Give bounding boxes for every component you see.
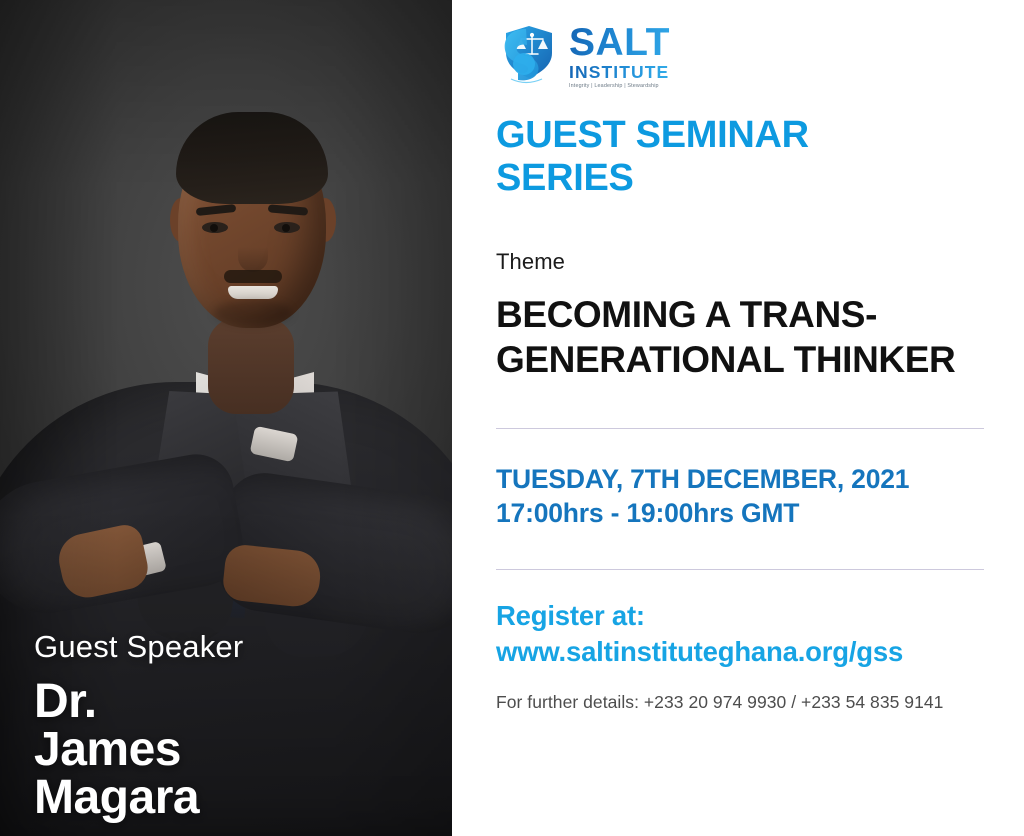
portrait-neck <box>208 318 294 414</box>
salt-institute-logo[interactable]: SALT INSTITUTE Integrity | Leadership | … <box>496 0 992 72</box>
contact-details: For further details: +233 20 974 9930 / … <box>496 692 992 713</box>
portrait-hand-right <box>221 543 322 609</box>
theme-label: Theme <box>496 249 992 275</box>
portrait-moustache <box>224 270 282 283</box>
series-title: GUEST SEMINAR SERIES <box>496 114 916 199</box>
seminar-flyer: Guest Speaker Dr. James Magara <box>0 0 1024 836</box>
speaker-caption: Guest Speaker Dr. James Magara <box>34 630 243 822</box>
speaker-name-line-1: Dr. <box>34 678 243 726</box>
portrait-hair <box>176 112 328 204</box>
speaker-name-line-3: Magara <box>34 774 243 822</box>
portrait-chin-shadow <box>214 300 292 326</box>
salt-wordmark: SALT INSTITUTE Integrity | Leadership | … <box>569 23 670 90</box>
theme-title: BECOMING A TRANS-GENERATIONAL THINKER <box>496 292 966 382</box>
speaker-name-line-2: James <box>34 726 243 774</box>
register-url[interactable]: www.saltinstituteghana.org/gss <box>496 634 992 670</box>
register-block: Register at: www.saltinstituteghana.org/… <box>496 598 992 670</box>
logo-institute-text: INSTITUTE <box>569 64 670 82</box>
speaker-name: Dr. James Magara <box>34 678 243 822</box>
event-date: TUESDAY, 7TH DECEMBER, 2021 <box>496 463 992 497</box>
portrait-eye-left <box>202 222 228 233</box>
salt-shield-scales-icon <box>496 20 562 86</box>
divider-bottom <box>496 569 984 570</box>
event-time: 17:00hrs - 19:00hrs GMT <box>496 497 992 531</box>
speaker-photo-panel: Guest Speaker Dr. James Magara <box>0 0 452 836</box>
divider-top <box>496 428 984 429</box>
logo-salt-text: SALT <box>569 23 670 62</box>
portrait-mouth <box>228 286 278 299</box>
portrait-eye-right <box>274 222 300 233</box>
register-label: Register at: <box>496 598 992 634</box>
event-datetime: TUESDAY, 7TH DECEMBER, 2021 17:00hrs - 1… <box>496 463 992 531</box>
portrait-nose <box>238 236 268 272</box>
logo-tagline: Integrity | Leadership | Stewardship <box>569 84 670 89</box>
content-panel: SALT INSTITUTE Integrity | Leadership | … <box>452 0 1024 836</box>
speaker-kicker: Guest Speaker <box>34 630 243 664</box>
